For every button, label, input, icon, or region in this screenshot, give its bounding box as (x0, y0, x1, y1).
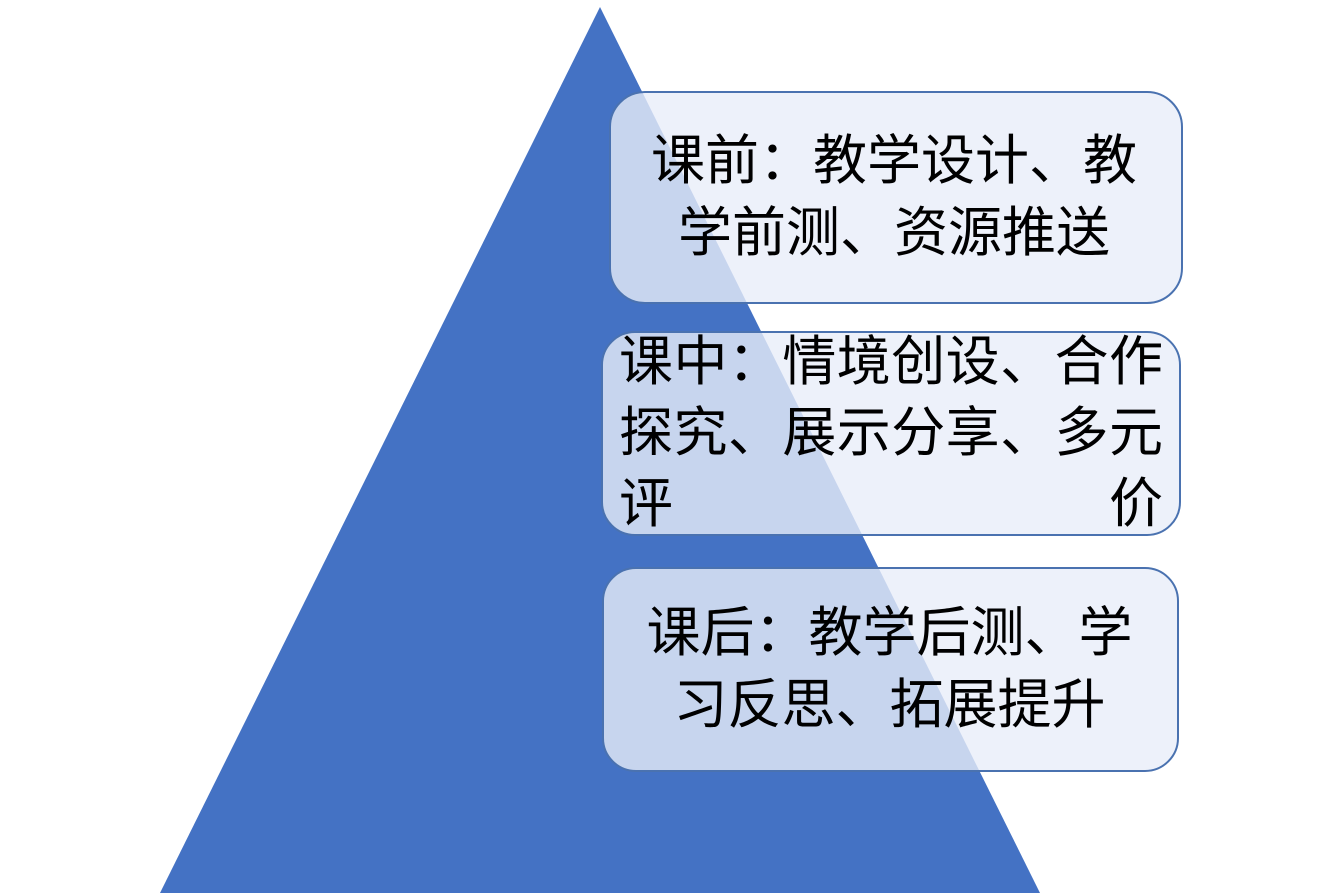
slide-canvas: 课前：教学设计、教学前测、资源推送 课中：情境创设、合作探究、展示分享、多元评价… (0, 0, 1334, 893)
stage-box-after-class[interactable]: 课后：教学后测、学习反思、拓展提升 (602, 567, 1179, 772)
stage-box-before-class[interactable]: 课前：教学设计、教学前测、资源推送 (609, 91, 1183, 304)
stage-box-during-class[interactable]: 课中：情境创设、合作探究、展示分享、多元评价 (601, 331, 1181, 536)
stage-text-before-class: 课前：教学设计、教学前测、资源推送 (611, 126, 1181, 269)
stage-text-after-class: 课后：教学后测、学习反思、拓展提升 (604, 598, 1177, 741)
stage-text-during-class: 课中：情境创设、合作探究、展示分享、多元评价 (603, 331, 1179, 536)
